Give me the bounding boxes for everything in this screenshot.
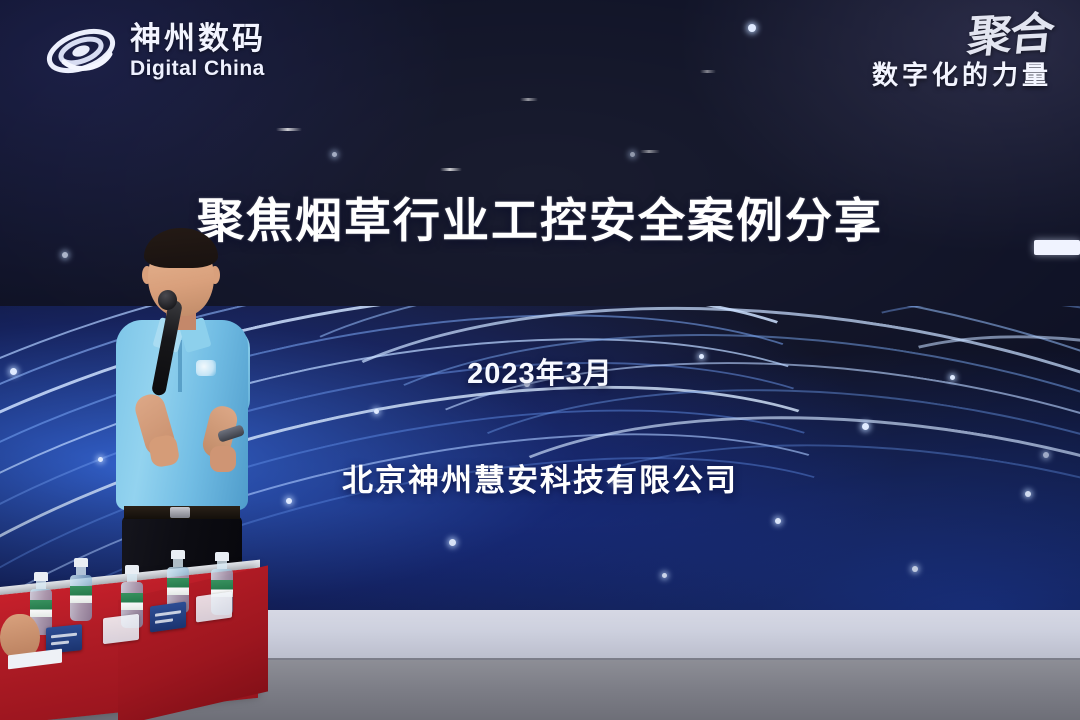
conference-stage-photo: 神州数码 Digital China 聚合 数字化的力量 聚焦烟草行业工控安全案… [0, 0, 1080, 720]
name-card [196, 591, 232, 622]
presenter-chest-logo [196, 360, 216, 376]
bottle-label [167, 578, 189, 595]
event-logo-calligraphy: 聚合 [965, 12, 1054, 60]
bottle-cap [34, 572, 48, 581]
bottle-body [70, 575, 92, 621]
bottle-label [30, 600, 52, 617]
water-bottle [70, 558, 92, 621]
event-logo-tagline: 数字化的力量 [872, 62, 1052, 88]
presenter-right-hand [210, 446, 236, 472]
bottle-label [70, 586, 92, 603]
bottle-neck [217, 561, 227, 569]
name-card [103, 614, 139, 644]
presenter-belt-buckle [170, 507, 190, 518]
bottle-cap [125, 565, 139, 574]
bottle-neck [36, 581, 46, 589]
event-logo: 聚合 数字化的力量 [872, 14, 1052, 88]
bottle-neck [127, 574, 137, 582]
digital-china-swirl-icon [44, 22, 118, 80]
brand-name-cn: 神州数码 [130, 23, 266, 54]
bottle-cap [171, 550, 185, 559]
bottle-label [121, 593, 143, 610]
bottle-cap [74, 558, 88, 567]
bottle-cap [215, 552, 229, 561]
bottle-neck [76, 567, 86, 575]
digital-china-logo: 神州数码 Digital China [44, 22, 266, 80]
presenter-hair [144, 228, 218, 268]
brand-name-en: Digital China [130, 58, 266, 79]
bottle-neck [173, 559, 183, 567]
name-card [150, 601, 186, 632]
